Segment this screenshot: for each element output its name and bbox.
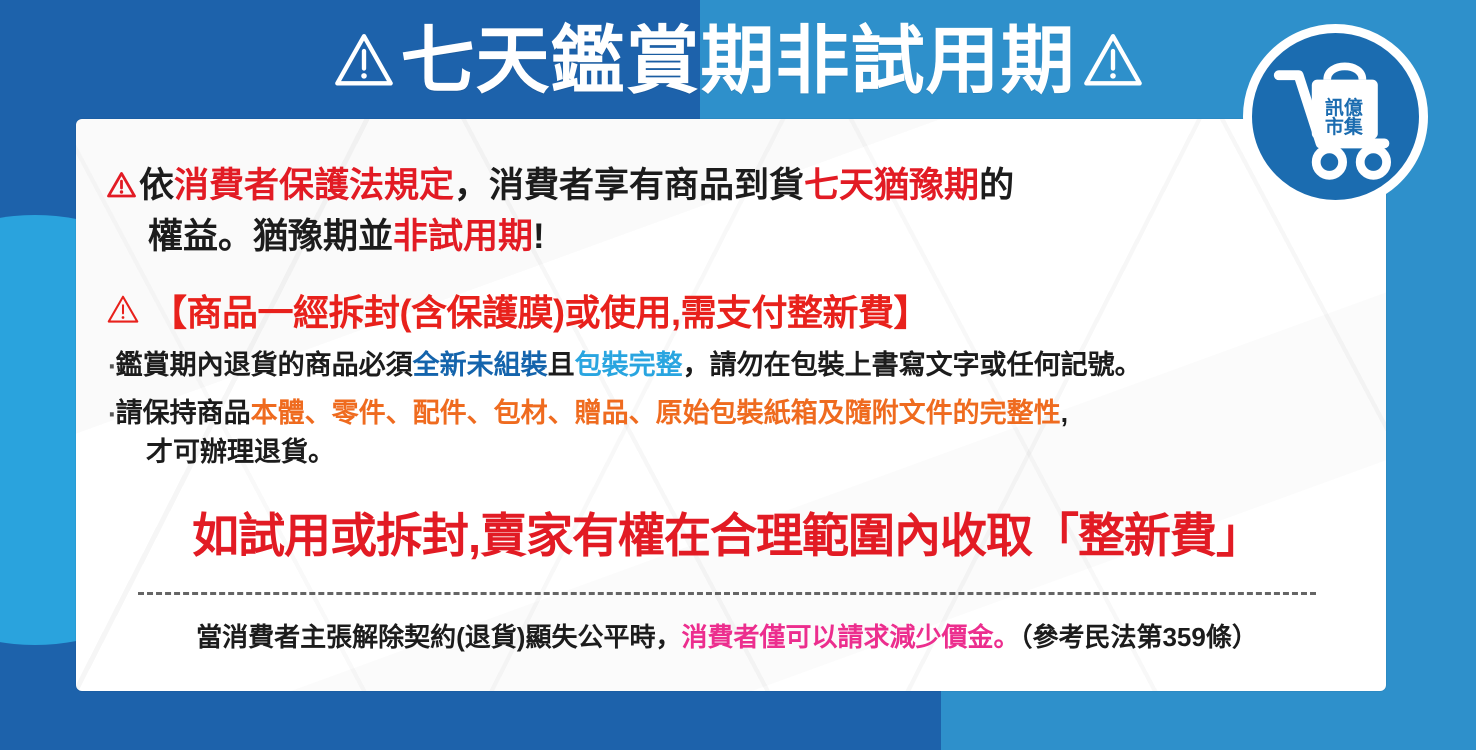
bullet-marker: ‧ (108, 354, 116, 379)
b1-a: 鑑賞期內退貨的商品必須 (116, 350, 413, 380)
b1-b: 全新未組裝 (413, 350, 548, 380)
page-title: 七天鑑賞期非試用期 (333, 24, 1144, 98)
policy-heading-2: 【商品一經拆封(含保護膜)或使用,需支付整新費】 (102, 284, 1352, 336)
background-right-lower (1380, 110, 1476, 750)
p1-seg3: ，消費者享有商品到貨 (454, 166, 804, 205)
policy-footnote: 當消費者主張解除契約(退貨)顯失公平時，消費者僅可以請求減少價金。（參考民法第3… (102, 617, 1352, 654)
warning-triangle-icon (1082, 30, 1144, 92)
brand-logo: 訊億 市集 (1243, 24, 1428, 209)
promo-banner: 七天鑑賞期非試用期 訊億 市集 (0, 0, 1476, 750)
b2-c: , (1061, 398, 1069, 428)
policy-bullet-2: ‧請保持商品本體、零件、配件、包材、贈品、原始包裝紙箱及隨附文件的完整性, 才可… (102, 394, 1352, 471)
shopping-cart-icon (1270, 51, 1402, 183)
bullet-marker: ‧ (108, 402, 116, 427)
p1-seg1: 依 (139, 166, 174, 205)
p1-seg2: 消費者保護法規定 (174, 166, 454, 205)
b1-e: ，請勿在包裝上書寫文字或任何記號。 (683, 350, 1142, 380)
background-bottom-strip-light (941, 690, 1476, 750)
b1-d: 包裝完整 (575, 350, 683, 380)
b1-c: 且 (548, 350, 575, 380)
b2-a: 請保持商品 (116, 398, 251, 428)
section-divider (138, 592, 1316, 595)
footnote-b: 消費者僅可以請求減少價金。 (681, 622, 1019, 652)
p1-line2-b: ! (533, 217, 545, 256)
p1-seg5: 的 (979, 166, 1014, 205)
warning-triangle-icon (333, 30, 395, 92)
warning-triangle-icon (106, 293, 140, 327)
page-title-text: 七天鑑賞期非試用期 (401, 24, 1076, 98)
b2-b: 本體、零件、配件、包材、贈品、原始包裝紙箱及隨附文件的完整性 (251, 398, 1061, 428)
footnote-a: 當消費者主張解除契約(退貨)顯失公平時， (196, 622, 681, 652)
policy-heading-2-text: 【商品一經拆封(含保護膜)或使用,需支付整新費】 (151, 284, 929, 336)
p1-line2-a: 權益。猶豫期並 (148, 217, 393, 256)
policy-card: 依消費者保護法規定，消費者享有商品到貨七天猶豫期的 權益。猶豫期並非試用期! 【… (76, 119, 1386, 691)
warning-triangle-icon (106, 167, 137, 198)
policy-bullet-1: ‧鑑賞期內退貨的商品必須全新未組裝且包裝完整，請勿在包裝上書寫文字或任何記號。 (102, 346, 1352, 384)
footnote-c: （參考民法第359條） (1019, 622, 1257, 652)
p1-seg4: 七天猶豫期 (804, 166, 979, 205)
p1-line2-red: 非試用期 (393, 217, 533, 256)
b2-line2: 才可辦理退貨。 (108, 433, 1352, 471)
policy-emphasis-line: 如試用或拆封,賣家有權在合理範圍內收取「整新費」 (102, 497, 1352, 566)
policy-paragraph-1: 依消費者保護法規定，消費者享有商品到貨七天猶豫期的 權益。猶豫期並非試用期! (102, 163, 1352, 260)
